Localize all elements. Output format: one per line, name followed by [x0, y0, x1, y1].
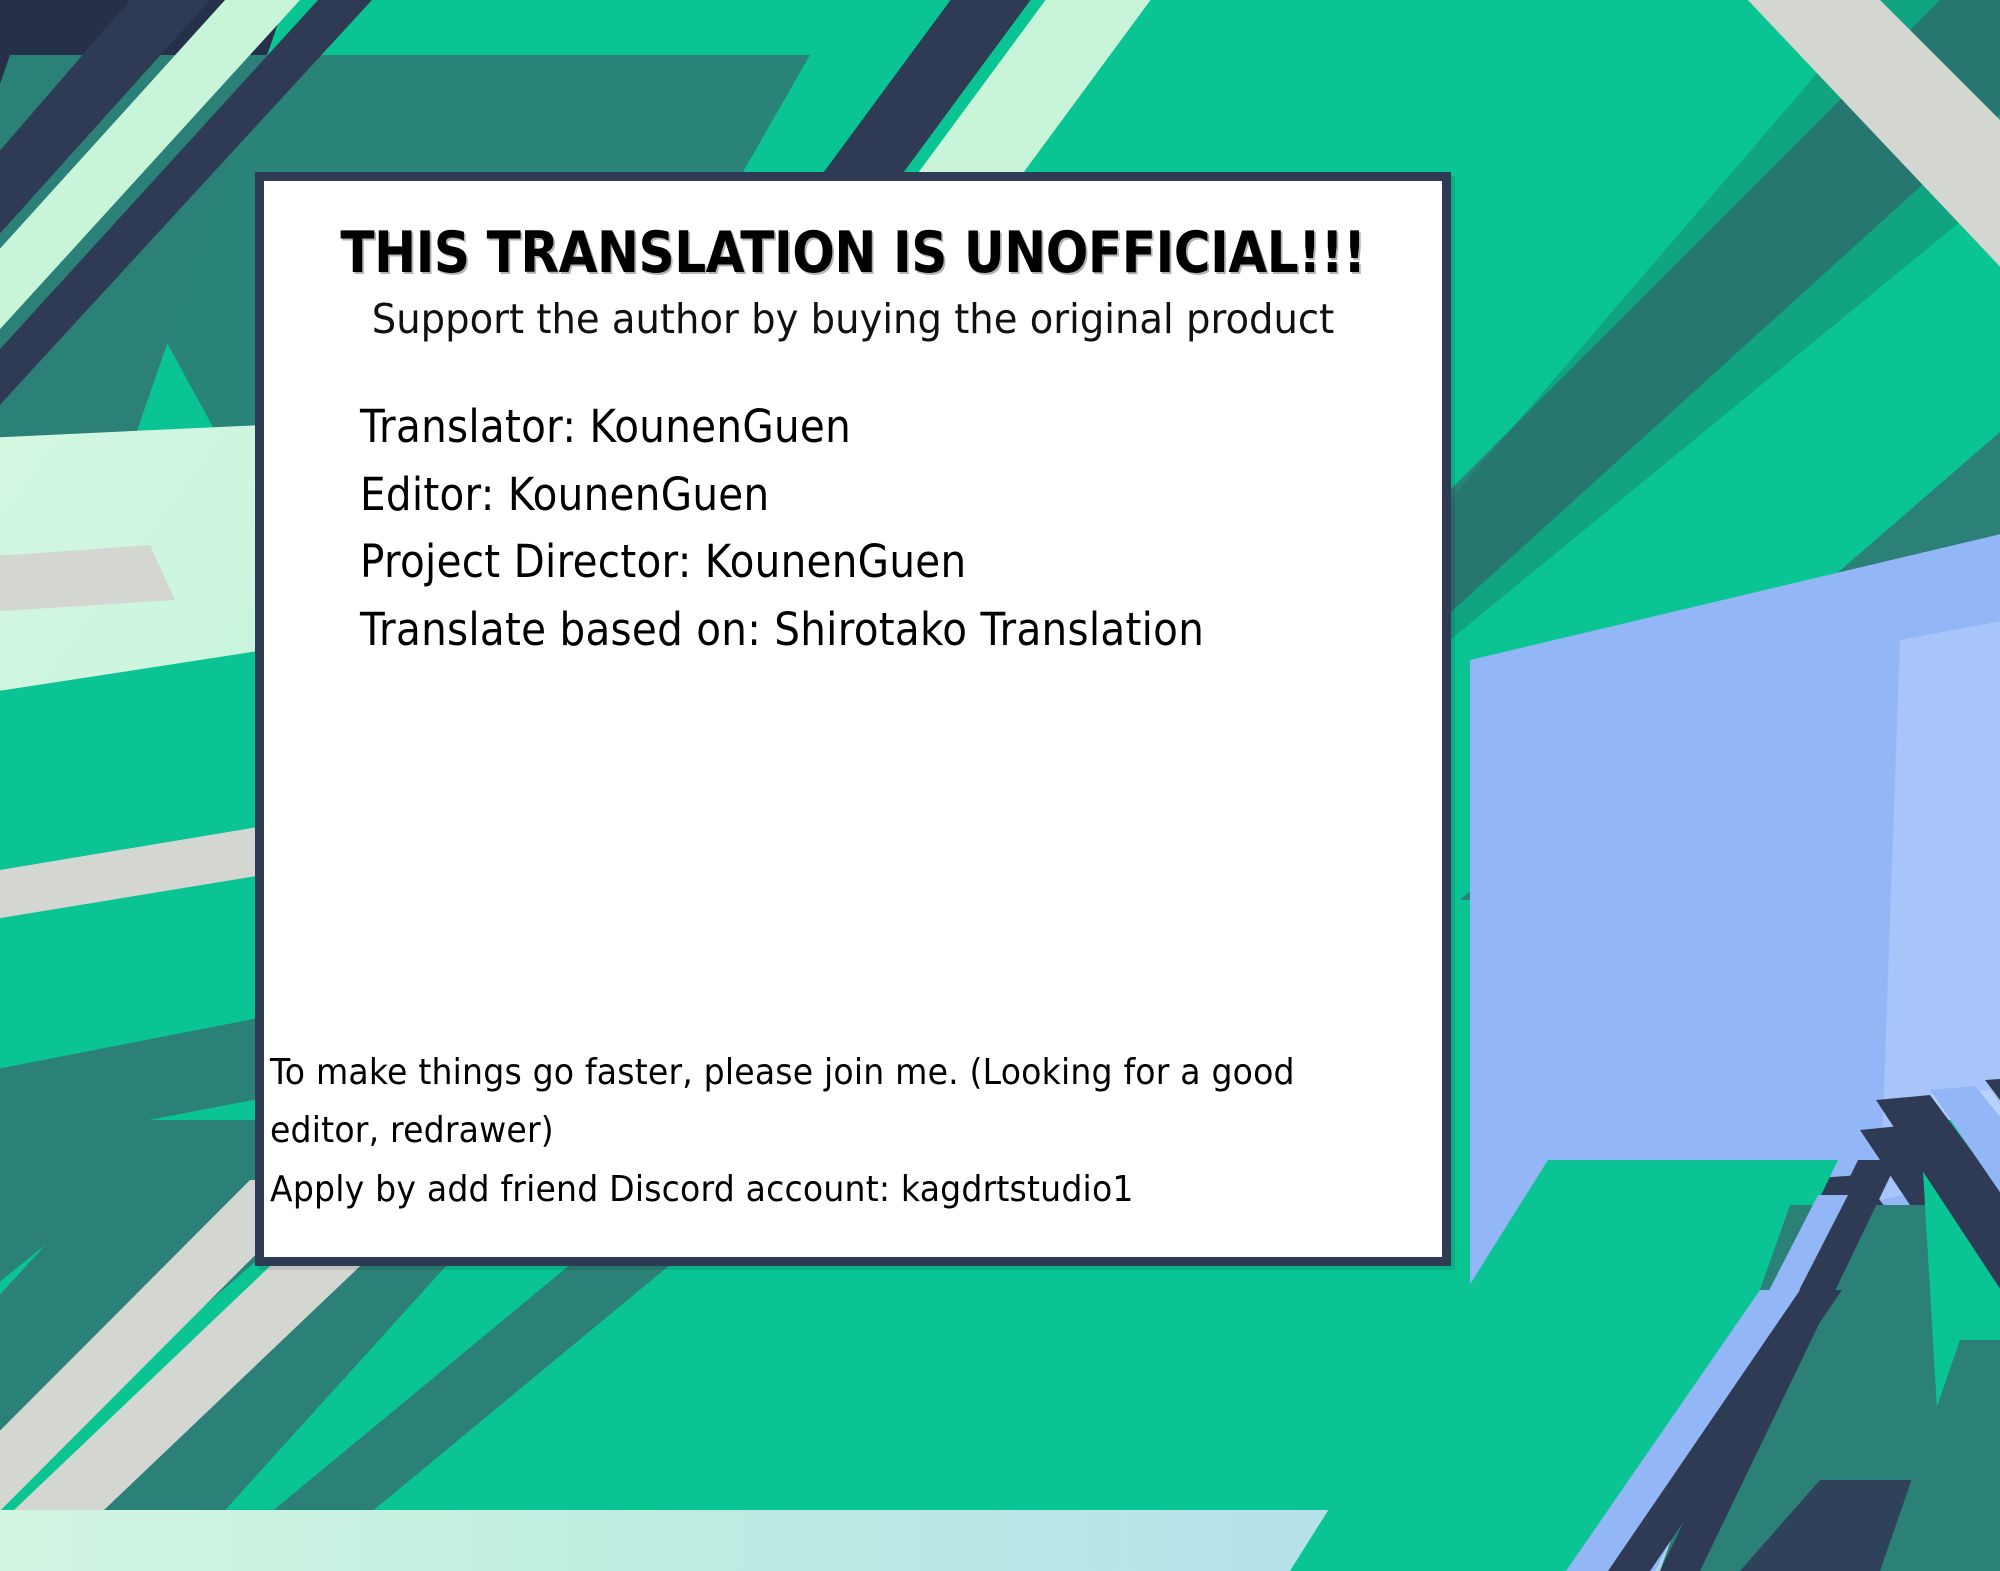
- slide-canvas: THIS TRANSLATION IS UNOFFICIAL!!! Suppor…: [0, 0, 2000, 1571]
- heading-block: THIS TRANSLATION IS UNOFFICIAL!!! Suppor…: [264, 223, 1442, 343]
- page-subtitle: Support the author by buying the origina…: [299, 297, 1406, 343]
- footer-note-line-2: editor, redrawer): [270, 1102, 1348, 1160]
- credits-list: Translator: KounenGuen Editor: KounenGue…: [360, 393, 1400, 663]
- footer-note-line-1: To make things go faster, please join me…: [270, 1044, 1348, 1102]
- credit-card-inner: THIS TRANSLATION IS UNOFFICIAL!!! Suppor…: [264, 181, 1442, 1257]
- credit-card: THIS TRANSLATION IS UNOFFICIAL!!! Suppor…: [255, 172, 1451, 1266]
- credit-line-translate-based-on: Translate based on: Shirotako Translatio…: [360, 596, 1296, 664]
- credit-line-editor: Editor: KounenGuen: [360, 461, 1296, 529]
- page-title: THIS TRANSLATION IS UNOFFICIAL!!!: [335, 223, 1372, 283]
- credit-line-translator: Translator: KounenGuen: [360, 393, 1296, 461]
- footer-note: To make things go faster, please join me…: [264, 1044, 1442, 1219]
- footer-note-discord: Apply by add friend Discord account: kag…: [270, 1161, 1348, 1219]
- credit-line-project-director: Project Director: KounenGuen: [360, 528, 1296, 596]
